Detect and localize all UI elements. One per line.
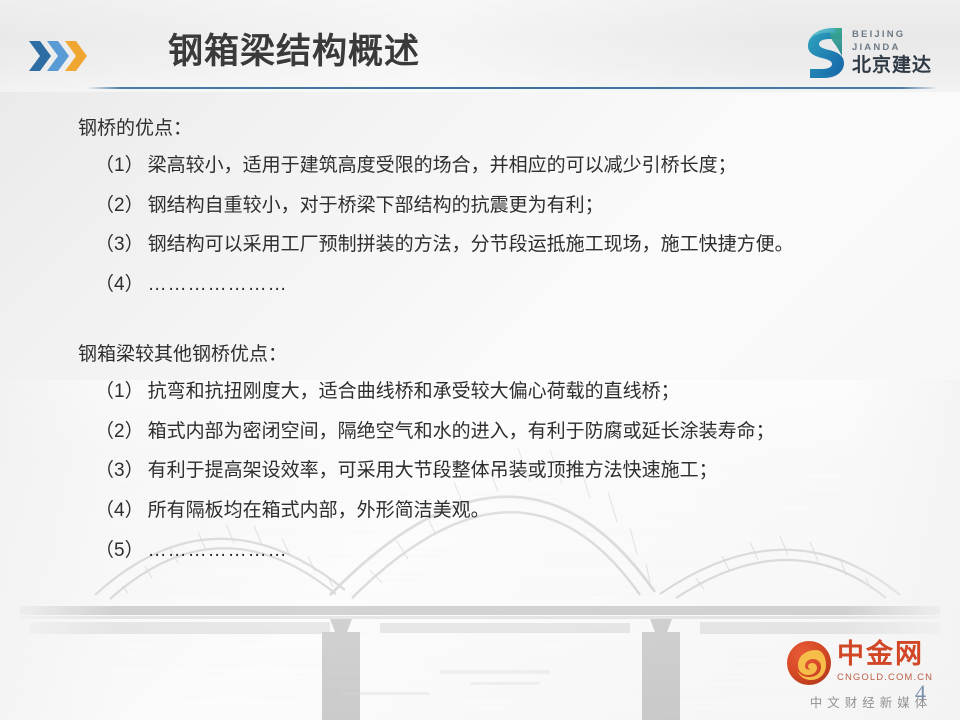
item-number: （2） — [95, 195, 144, 216]
title-underline — [87, 87, 935, 89]
item-text: 钢结构可以采用工厂预制拼装的方法，分节段运抵施工现场，施工快捷方便。 — [148, 234, 794, 255]
list-item: （4）………………… — [95, 274, 900, 297]
triple-chevron-right-icon — [27, 38, 93, 74]
list-item: （3）有利于提高架设效率，可采用大节段整体吊装或顶推方法快速施工； — [95, 460, 900, 483]
item-number: （2） — [95, 421, 144, 442]
section-2-lead: 钢箱梁较其他钢桥优点： — [78, 344, 900, 367]
beijing-jianda-s-monogram-icon — [804, 26, 846, 80]
list-item: （1）梁高较小，适用于建筑高度受限的场合，并相应的可以减少引桥长度； — [95, 155, 900, 178]
list-item: （5）………………… — [95, 540, 900, 563]
page-title: 钢箱梁结构概述 — [168, 34, 420, 69]
item-text: 抗弯和抗扭刚度大，适合曲线桥和承受较大偏心荷载的直线桥； — [148, 381, 680, 402]
section-1-lead: 钢桥的优点： — [78, 118, 900, 141]
logo-text-block: BEIJING JIANDA 北京建达 — [852, 29, 932, 77]
item-number: （3） — [95, 234, 144, 255]
slide: 钢箱梁结构概述 — [0, 0, 960, 720]
item-number: （5） — [95, 540, 144, 561]
item-number: （4） — [95, 500, 144, 521]
item-text: ………………… — [148, 274, 288, 295]
watermark-url: CNGOLD.COM.CN — [837, 671, 933, 684]
item-number: （3） — [95, 460, 144, 481]
watermark-top-row: 中金网 CNGOLD.COM.CN — [786, 638, 954, 688]
watermark-text-block: 中金网 CNGOLD.COM.CN — [837, 641, 933, 684]
item-text: 所有隔板均在箱式内部，外形简洁美观。 — [148, 500, 490, 521]
logo-en-line2: JIANDA — [852, 42, 932, 55]
list-item: （2）钢结构自重较小，对于桥梁下部结构的抗震更为有利； — [95, 195, 900, 218]
item-text: 箱式内部为密闭空间，隔绝空气和水的进入，有利于防腐或延长涂装寿命； — [148, 421, 775, 442]
section-steel-bridge-advantages: 钢桥的优点： （1）梁高较小，适用于建筑高度受限的场合，并相应的可以减少引桥长度… — [0, 118, 900, 314]
logo-en-line1: BEIJING — [852, 29, 932, 42]
cngold-watermark: 中金网 CNGOLD.COM.CN 中文财经新媒体 — [786, 638, 954, 714]
cngold-flame-badge-icon — [786, 640, 832, 686]
company-logo: BEIJING JIANDA 北京建达 — [804, 24, 932, 82]
item-text: 有利于提高架设效率，可采用大节段整体吊装或顶推方法快速施工； — [148, 460, 718, 481]
list-item: （1）抗弯和抗扭刚度大，适合曲线桥和承受较大偏心荷载的直线桥； — [95, 381, 900, 404]
list-item: （4）所有隔板均在箱式内部，外形简洁美观。 — [95, 500, 900, 523]
item-number: （1） — [95, 155, 144, 176]
logo-cn-name: 北京建达 — [852, 56, 932, 77]
item-text: 梁高较小，适用于建筑高度受限的场合，并相应的可以减少引桥长度； — [148, 155, 737, 176]
item-number: （1） — [95, 381, 144, 402]
item-number: （4） — [95, 274, 144, 295]
slide-header: 钢箱梁结构概述 — [0, 0, 960, 92]
item-text: ………………… — [148, 540, 288, 561]
list-item: （3）钢结构可以采用工厂预制拼装的方法，分节段运抵施工现场，施工快捷方便。 — [95, 234, 900, 257]
section-box-girder-advantages: 钢箱梁较其他钢桥优点： （1）抗弯和抗扭刚度大，适合曲线桥和承受较大偏心荷载的直… — [0, 344, 900, 580]
list-item: （2）箱式内部为密闭空间，隔绝空气和水的进入，有利于防腐或延长涂装寿命； — [95, 421, 900, 444]
watermark-cn-name: 中金网 — [837, 641, 933, 668]
watermark-tagline: 中文财经新媒体 — [786, 692, 954, 711]
item-text: 钢结构自重较小，对于桥梁下部结构的抗震更为有利； — [148, 195, 604, 216]
